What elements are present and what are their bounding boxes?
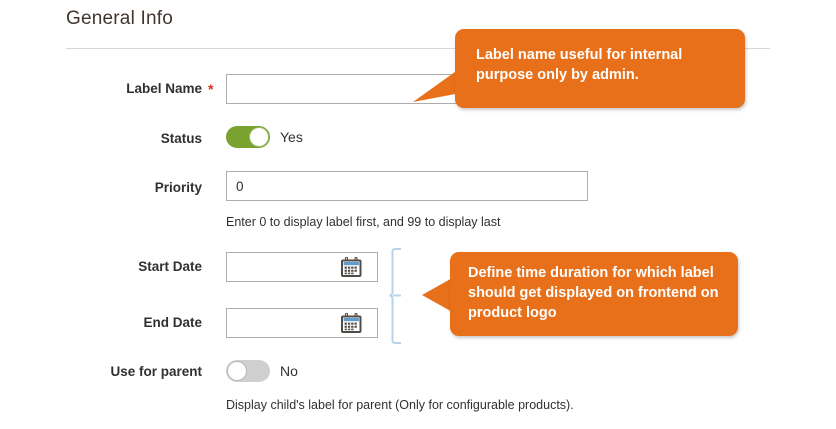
end-date-calendar-icon[interactable] bbox=[341, 313, 362, 333]
label-name-required-marker: * bbox=[208, 82, 213, 96]
priority-note: Enter 0 to display label first, and 99 t… bbox=[226, 215, 500, 229]
status-label: Status bbox=[14, 131, 202, 146]
label-name-label: Label Name bbox=[14, 81, 202, 96]
priority-label: Priority bbox=[14, 180, 202, 195]
status-toggle-value: Yes bbox=[280, 129, 303, 145]
use-for-parent-toggle[interactable] bbox=[226, 360, 270, 382]
status-toggle[interactable] bbox=[226, 126, 270, 148]
use-for-parent-toggle-knob bbox=[227, 361, 247, 381]
label-name-callout-text: Label name useful for internal purpose o… bbox=[476, 45, 734, 85]
use-for-parent-note: Display child's label for parent (Only f… bbox=[226, 398, 574, 412]
start-date-calendar-icon[interactable] bbox=[341, 257, 362, 277]
start-date-label: Start Date bbox=[14, 259, 202, 274]
general-info-form-page: General Info Label Name * Status Yes Pri… bbox=[0, 0, 836, 429]
date-range-callout: Define time duration for which label sho… bbox=[450, 252, 738, 336]
use-for-parent-toggle-value: No bbox=[280, 363, 298, 379]
date-range-callout-text: Define time duration for which label sho… bbox=[468, 263, 724, 323]
label-name-callout: Label name useful for internal purpose o… bbox=[455, 29, 745, 108]
page-title: General Info bbox=[66, 8, 173, 30]
priority-input[interactable] bbox=[226, 171, 588, 201]
use-for-parent-label: Use for parent bbox=[14, 364, 202, 379]
date-range-brace bbox=[388, 248, 412, 344]
end-date-label: End Date bbox=[14, 315, 202, 330]
status-toggle-knob bbox=[249, 127, 269, 147]
